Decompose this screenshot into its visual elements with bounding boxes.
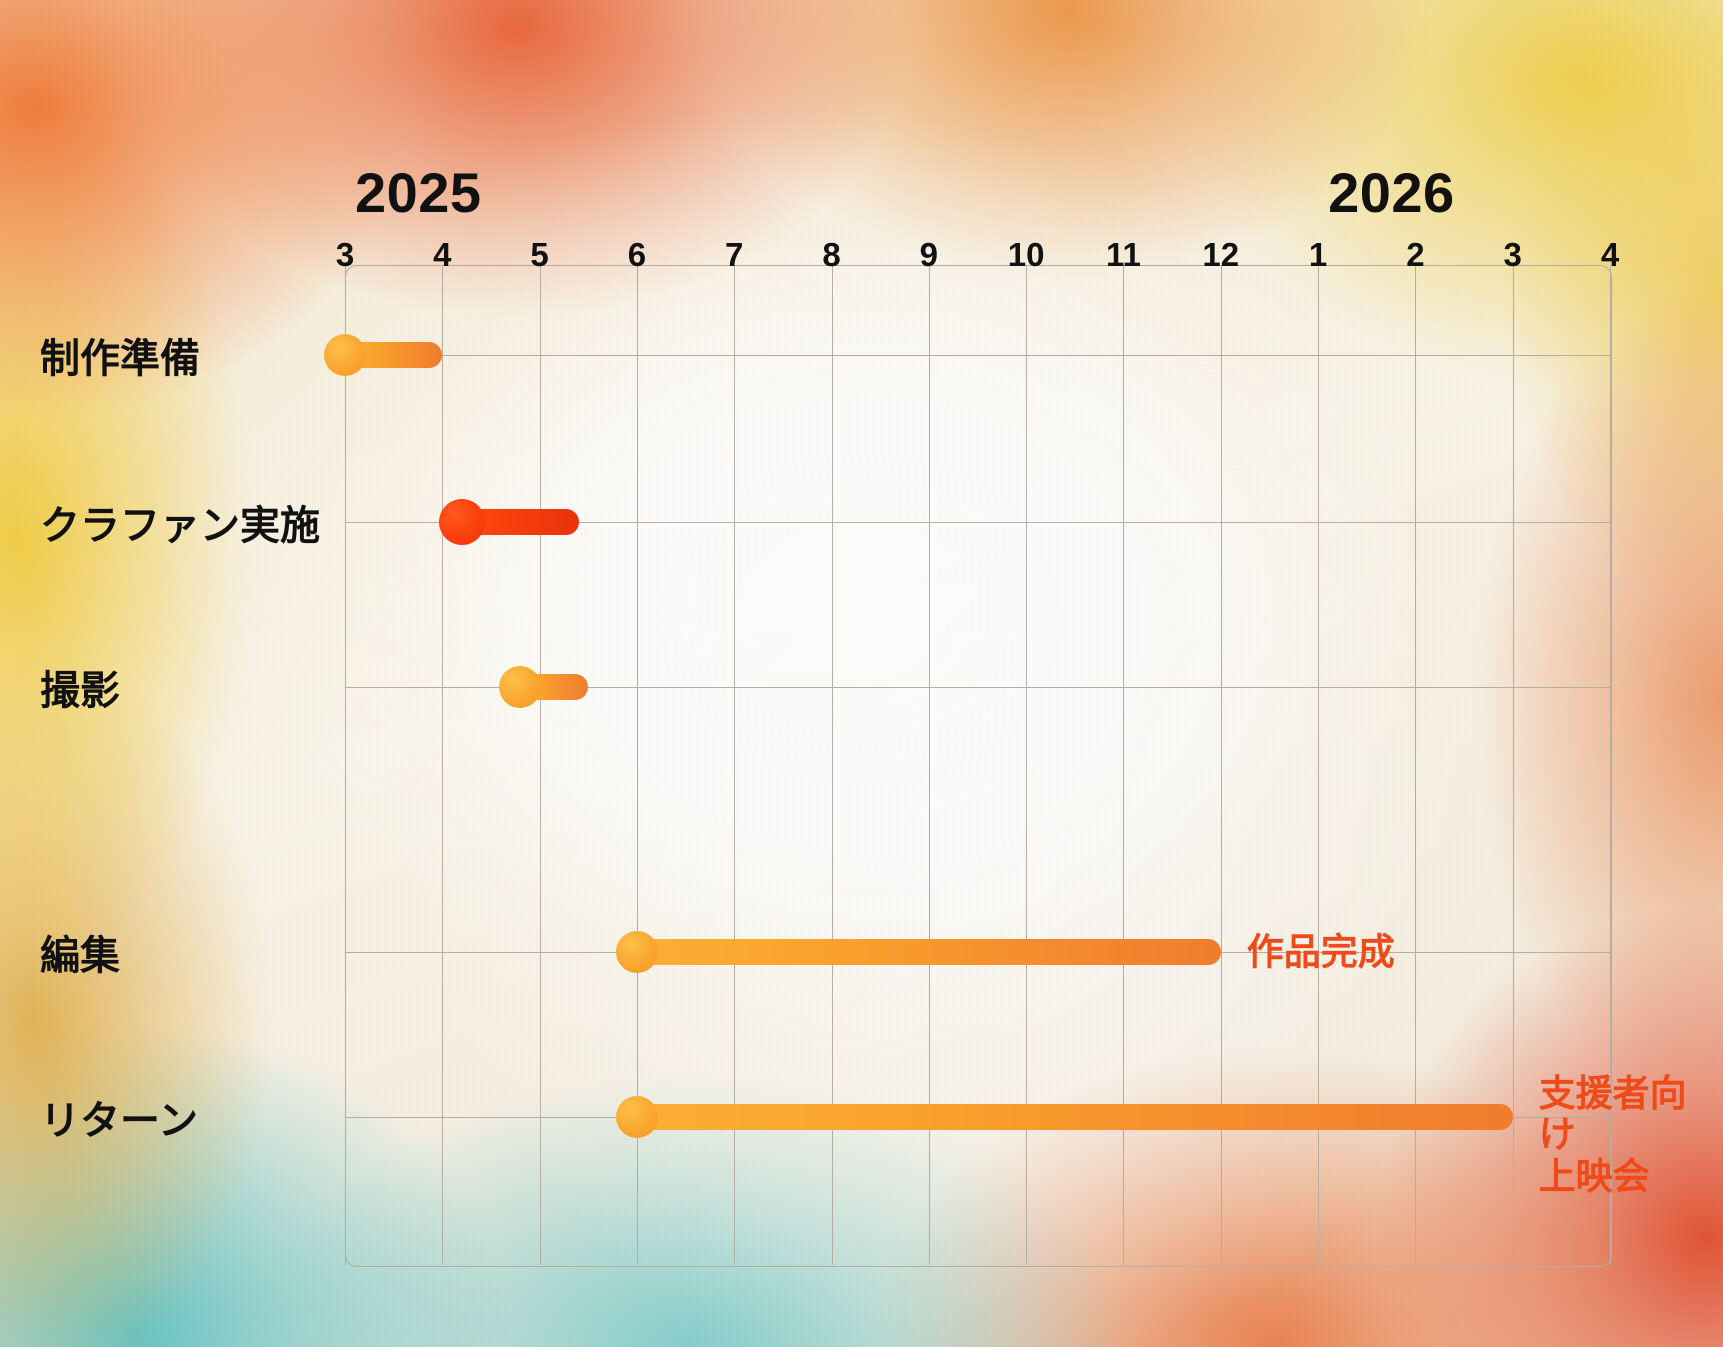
task-start-marker-2[interactable] bbox=[499, 666, 541, 708]
x-axis-tick-7-4: 7 bbox=[725, 236, 743, 274]
x-axis-tick-1-10: 1 bbox=[1309, 236, 1327, 274]
row-label-3: 編集 bbox=[40, 923, 120, 981]
x-axis-tick-4-13: 4 bbox=[1601, 236, 1619, 274]
x-axis-tick-3-12: 3 bbox=[1504, 236, 1522, 274]
x-axis-tick-12-9: 12 bbox=[1202, 236, 1239, 274]
x-axis-tick-9-6: 9 bbox=[920, 236, 938, 274]
row-label-0: 制作準備 bbox=[40, 326, 200, 384]
row-label-2: 撮影 bbox=[40, 658, 120, 716]
task-start-marker-4[interactable] bbox=[616, 1096, 658, 1138]
task-start-marker-0[interactable] bbox=[324, 334, 366, 376]
gantt-chart: 2025202634567891011121234制作準備クラファン実施撮影編集… bbox=[0, 0, 1723, 1347]
x-axis-tick-4-1: 4 bbox=[433, 236, 451, 274]
x-axis-tick-2-11: 2 bbox=[1406, 236, 1424, 274]
x-axis-tick-3-0: 3 bbox=[336, 236, 354, 274]
x-axis-tick-8-5: 8 bbox=[822, 236, 840, 274]
task-start-marker-1[interactable] bbox=[439, 499, 485, 545]
year-label-2025: 2025 bbox=[355, 160, 482, 225]
grid-line-horizontal bbox=[345, 355, 1610, 356]
x-axis-tick-6-3: 6 bbox=[628, 236, 646, 274]
annotation-4: 支援者向け 上映会 bbox=[1539, 1073, 1723, 1197]
task-bar-4[interactable] bbox=[637, 1104, 1513, 1130]
year-label-2026: 2026 bbox=[1328, 160, 1455, 225]
row-label-4: リターン bbox=[40, 1088, 198, 1146]
grid-line-vertical bbox=[442, 265, 443, 1265]
task-start-marker-3[interactable] bbox=[616, 931, 658, 973]
grid-line-vertical bbox=[345, 265, 346, 1265]
task-bar-3[interactable] bbox=[637, 939, 1221, 965]
annotation-3: 作品完成 bbox=[1247, 931, 1395, 972]
x-axis-tick-5-2: 5 bbox=[530, 236, 548, 274]
grid-line-vertical bbox=[540, 265, 541, 1265]
x-axis-tick-11-8: 11 bbox=[1106, 236, 1141, 274]
x-axis-tick-10-7: 10 bbox=[1008, 236, 1045, 274]
grid-line-vertical bbox=[1513, 265, 1514, 1265]
row-label-1: クラファン実施 bbox=[40, 493, 320, 551]
